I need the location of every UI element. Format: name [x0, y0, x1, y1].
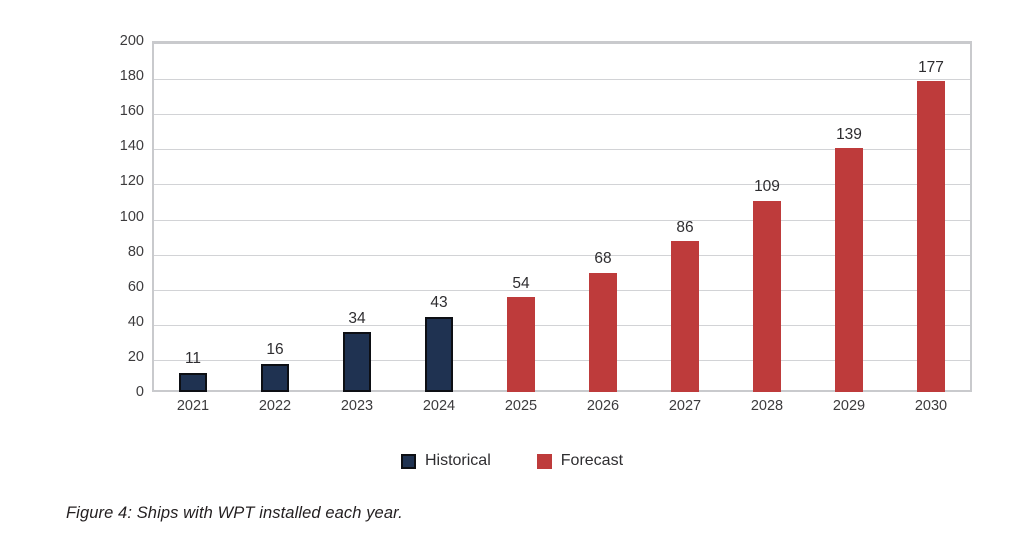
- bar-value-label: 43: [430, 295, 447, 311]
- bar-slot: 16: [234, 41, 316, 392]
- bar-2023[interactable]: [343, 332, 371, 392]
- bar-value-label: 139: [836, 127, 862, 143]
- bars-layer: 11163443546886109139177: [152, 41, 972, 392]
- bar-2026[interactable]: [589, 273, 617, 392]
- x-axis-tick-label-2028: 2028: [726, 398, 808, 415]
- bar-value-label: 16: [266, 342, 283, 358]
- legend-item-forecast[interactable]: Forecast: [537, 452, 623, 470]
- y-axis-tick-label: 100: [104, 210, 144, 225]
- bar-slot: 43: [398, 41, 480, 392]
- y-axis-tick-labels: 200180160140120100806040200: [100, 41, 144, 392]
- x-axis-tick-label-2024: 2024: [398, 398, 480, 415]
- y-axis-tick-label: 140: [104, 139, 144, 154]
- bar-value-label: 34: [348, 311, 365, 327]
- bar-slot: 109: [726, 41, 808, 392]
- bar-value-label: 86: [676, 220, 693, 236]
- y-axis-tick-label: 120: [104, 174, 144, 189]
- y-axis-tick-label: 40: [104, 315, 144, 330]
- x-axis-tick-label-2025: 2025: [480, 398, 562, 415]
- y-axis-tick-label: 180: [104, 69, 144, 84]
- x-axis-tick-label-2023: 2023: [316, 398, 398, 415]
- y-axis-tick-label: 0: [104, 385, 144, 400]
- bar-slot: 54: [480, 41, 562, 392]
- x-axis-tick-label-2026: 2026: [562, 398, 644, 415]
- bar-2028[interactable]: [753, 201, 781, 392]
- square-swatch-navy-icon: [401, 454, 416, 469]
- bar-2030[interactable]: [917, 81, 945, 392]
- bar-slot: 34: [316, 41, 398, 392]
- x-axis-tick-labels: 2021202220232024202520262027202820292030: [152, 398, 972, 422]
- y-axis-tick-label: 80: [104, 245, 144, 260]
- figure-container: Number of Installations 2001801601401201…: [0, 0, 1024, 533]
- figure-caption: Figure 4: Ships with WPT installed each …: [66, 504, 403, 523]
- bar-2024[interactable]: [425, 317, 453, 392]
- legend-item-historical[interactable]: Historical: [401, 452, 491, 470]
- bar-value-label: 54: [512, 276, 529, 292]
- bar-slot: 68: [562, 41, 644, 392]
- bar-2021[interactable]: [179, 373, 207, 392]
- legend-label: Forecast: [561, 452, 623, 470]
- y-axis-tick-label: 200: [104, 34, 144, 49]
- bar-2029[interactable]: [835, 148, 863, 392]
- y-axis-tick-label: 20: [104, 350, 144, 365]
- bar-slot: 86: [644, 41, 726, 392]
- x-axis-tick-label-2022: 2022: [234, 398, 316, 415]
- y-axis-tick-label: 160: [104, 104, 144, 119]
- legend-label: Historical: [425, 452, 491, 470]
- x-axis-tick-label-2029: 2029: [808, 398, 890, 415]
- bar-value-label: 68: [594, 251, 611, 267]
- square-swatch-red-icon: [537, 454, 552, 469]
- bar-slot: 177: [890, 41, 972, 392]
- bar-value-label: 177: [918, 60, 944, 76]
- bar-2022[interactable]: [261, 364, 289, 392]
- bar-2025[interactable]: [507, 297, 535, 392]
- chart-legend: HistoricalForecast: [0, 452, 1024, 470]
- x-axis-tick-label-2030: 2030: [890, 398, 972, 415]
- bar-2027[interactable]: [671, 241, 699, 392]
- bar-value-label: 11: [185, 351, 201, 367]
- bar-slot: 139: [808, 41, 890, 392]
- bar-value-label: 109: [754, 179, 780, 195]
- x-axis-tick-label-2027: 2027: [644, 398, 726, 415]
- x-axis-tick-label-2021: 2021: [152, 398, 234, 415]
- bar-slot: 11: [152, 41, 234, 392]
- y-axis-tick-label: 60: [104, 280, 144, 295]
